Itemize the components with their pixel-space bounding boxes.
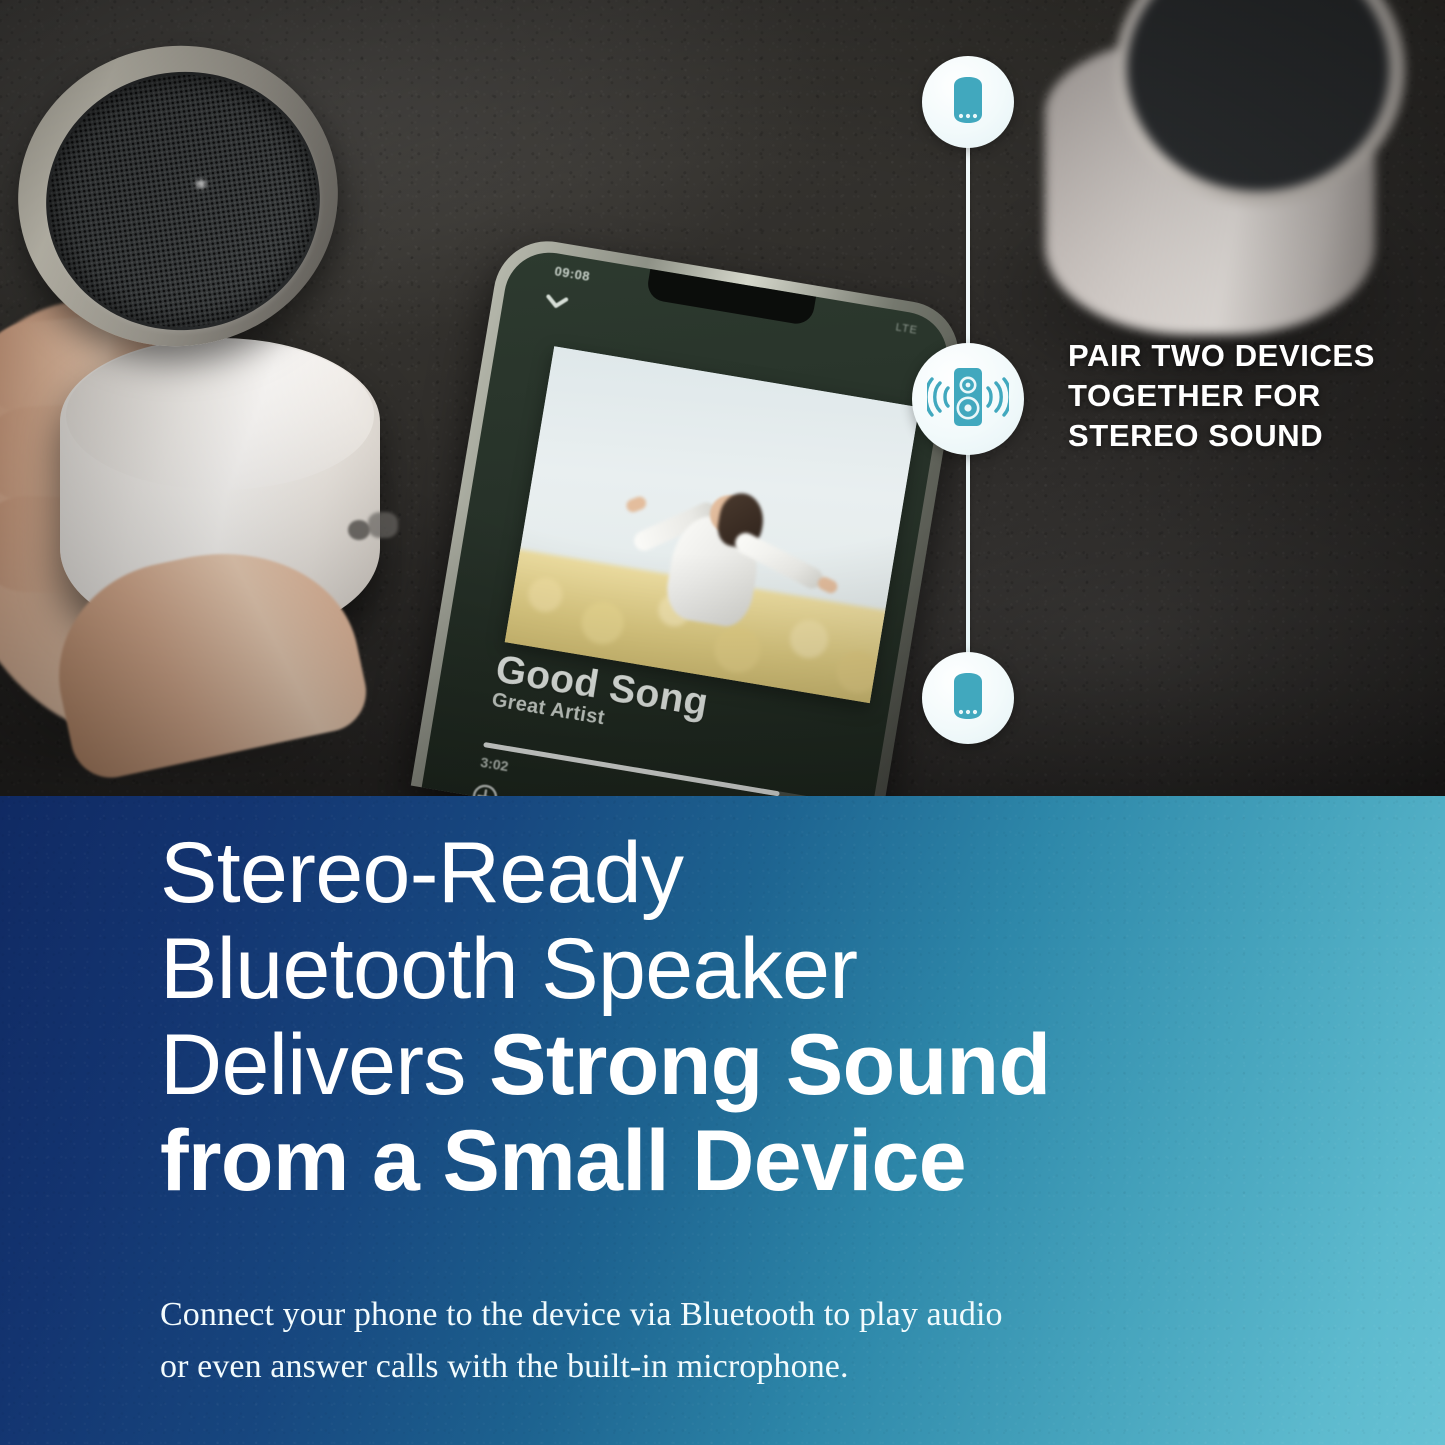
speaker-device-icon (948, 76, 988, 129)
headline-strong-sound: Strong Sound (489, 1017, 1050, 1113)
speaker-device-icon (948, 672, 988, 725)
callout-text-block: PAIR TWO DEVICES TOGETHER FOR STEREO SOU… (1068, 336, 1428, 456)
headline-delivers: Delivers (160, 1017, 489, 1113)
callout-line-2: TOGETHER FOR (1068, 376, 1428, 416)
callout-bubble-bottom (922, 652, 1014, 744)
headline-line-2: Bluetooth Speaker (160, 922, 1350, 1018)
headline-line-1: Stereo-Ready (160, 826, 1350, 922)
stereo-speaker-waves-icon (927, 366, 1009, 433)
callout-bubble-middle (912, 343, 1024, 455)
headline-line-3: Delivers Strong Sound (160, 1018, 1350, 1114)
subcopy: Connect your phone to the device via Blu… (160, 1289, 1340, 1392)
product-infographic: 09:08 LTE (0, 0, 1445, 1445)
subcopy-line-1: Connect your phone to the device via Blu… (160, 1289, 1340, 1341)
headline: Stereo-Ready Bluetooth Speaker Delivers … (160, 826, 1350, 1210)
callout-bubble-top (922, 56, 1014, 148)
product-photo-scene: 09:08 LTE (0, 0, 1445, 797)
headline-line-4: from a Small Device (160, 1114, 1350, 1210)
subcopy-line-2: or even answer calls with the built-in m… (160, 1341, 1340, 1393)
callout-line-3: STEREO SOUND (1068, 416, 1428, 456)
callout-line-1: PAIR TWO DEVICES (1068, 336, 1428, 376)
